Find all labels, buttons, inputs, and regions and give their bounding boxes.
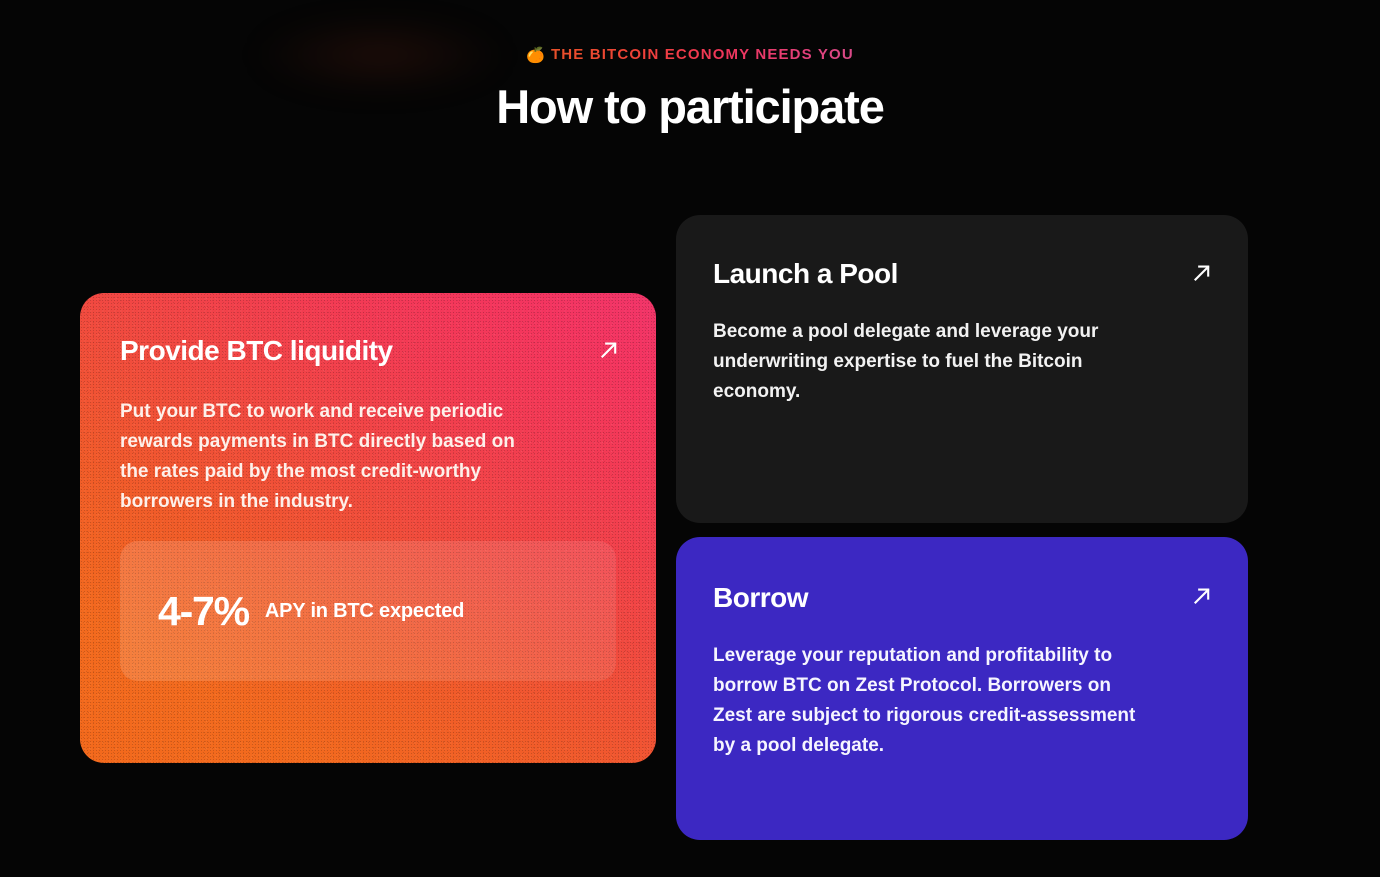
arrow-up-right-icon[interactable] (1191, 262, 1213, 284)
eyebrow-label: THE BITCOIN ECONOMY NEEDS YOU (551, 46, 854, 63)
card-provide-btc-liquidity[interactable]: Provide BTC liquidity Put your BTC to wo… (80, 293, 656, 763)
page-title: How to participate (0, 79, 1380, 135)
apy-value: 4-7% (158, 588, 249, 635)
card-body-pool: Become a pool delegate and leverage your… (713, 317, 1133, 407)
card-title-liquidity: Provide BTC liquidity (120, 333, 393, 369)
card-title-borrow: Borrow (713, 580, 808, 616)
card-launch-a-pool[interactable]: Launch a Pool Become a pool delegate and… (676, 215, 1248, 523)
card-content: Launch a Pool Become a pool delegate and… (676, 215, 1248, 523)
apy-label: APY in BTC expected (265, 600, 464, 623)
how-to-participate-section: 🍊THE BITCOIN ECONOMY NEEDS YOU How to pa… (0, 0, 1380, 877)
card-content: Borrow Leverage your reputation and prof… (676, 537, 1248, 840)
card-borrow[interactable]: Borrow Leverage your reputation and prof… (676, 537, 1248, 840)
arrow-up-right-icon[interactable] (598, 339, 620, 361)
card-title-pool: Launch a Pool (713, 256, 898, 292)
tangerine-icon: 🍊 (526, 47, 546, 64)
apy-badge: 4-7% APY in BTC expected (120, 541, 616, 681)
arrow-up-right-icon[interactable] (1191, 585, 1213, 607)
card-body-liquidity: Put your BTC to work and receive periodi… (120, 397, 544, 517)
section-header: 🍊THE BITCOIN ECONOMY NEEDS YOU How to pa… (0, 0, 1380, 135)
card-content: Provide BTC liquidity Put your BTC to wo… (80, 293, 656, 763)
eyebrow: 🍊THE BITCOIN ECONOMY NEEDS YOU (0, 44, 1380, 67)
card-body-borrow: Leverage your reputation and profitabili… (713, 641, 1137, 761)
